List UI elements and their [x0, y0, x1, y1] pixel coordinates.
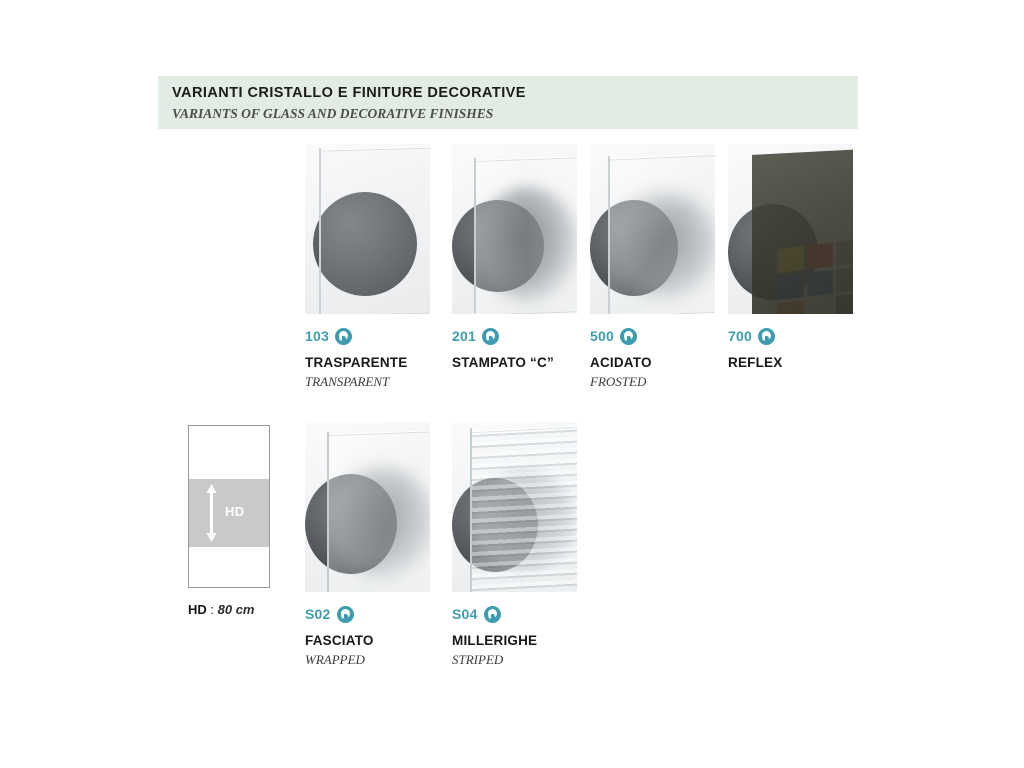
sample-name: TRASPARENTE: [305, 355, 430, 371]
glass-pane-shape: [470, 425, 577, 592]
sample-image-500: [590, 144, 715, 314]
sample-code-line: 201: [452, 327, 577, 345]
hd-caption-value: 80 cm: [218, 602, 255, 617]
sample-image-s02: [305, 422, 430, 592]
sample-code: 500: [590, 327, 614, 345]
glass-drop-icon: [620, 328, 637, 345]
sample-code: S02: [305, 605, 331, 623]
glass-edge-shape: [319, 148, 321, 314]
sample-subtitle: WRAPPED: [305, 652, 430, 668]
sample-name: MILLERIGHE: [452, 633, 577, 649]
page-subtitle: VARIANTS OF GLASS AND DECORATIVE FINISHE…: [172, 104, 858, 123]
hd-double-arrow-icon: [206, 484, 217, 542]
glass-edge-shape: [470, 428, 472, 592]
sample-code-line: 103: [305, 327, 430, 345]
glass-drop-icon: [484, 606, 501, 623]
sample-code: S04: [452, 605, 478, 623]
sample-name: STAMPATO “C”: [452, 355, 577, 371]
sample-code-line: 700: [728, 327, 853, 345]
page-title: VARIANTI CRISTALLO E FINITURE DECORATIVE: [172, 84, 858, 102]
glass-drop-icon: [335, 328, 352, 345]
sample-subtitle: FROSTED: [590, 374, 715, 390]
sample-code: 103: [305, 327, 329, 345]
hd-caption-label: HD: [188, 602, 207, 617]
sample-card-s02[interactable]: S02 FASCIATO WRAPPED: [305, 422, 430, 668]
sample-subtitle: TRANSPARENT: [305, 374, 430, 390]
glass-edge-shape: [608, 156, 610, 314]
sample-image-201: [452, 144, 577, 314]
glass-pane-shape: [327, 430, 430, 592]
sample-name: ACIDATO: [590, 355, 715, 371]
hd-caption-separator: :: [207, 602, 218, 617]
sample-code: 700: [728, 327, 752, 345]
glass-drop-icon: [337, 606, 354, 623]
sample-card-s04[interactable]: S04 MILLERIGHE STRIPED: [452, 422, 577, 668]
sample-code-line: S04: [452, 605, 577, 623]
sample-code-line: S02: [305, 605, 430, 623]
sample-card-201[interactable]: 201 STAMPATO “C”: [452, 144, 577, 374]
sample-subtitle: STRIPED: [452, 652, 577, 668]
sample-name: FASCIATO: [305, 633, 430, 649]
glass-pane-shape: [319, 146, 430, 314]
hd-band-label: HD: [225, 504, 244, 519]
bronze-glass-pane-shape: [752, 149, 853, 314]
sample-card-700[interactable]: 700 REFLEX: [728, 144, 853, 374]
sample-name: REFLEX: [728, 355, 853, 371]
glass-pane-shape: [608, 153, 715, 314]
section-header-banner: VARIANTI CRISTALLO E FINITURE DECORATIVE…: [158, 76, 858, 129]
glass-drop-icon: [758, 328, 775, 345]
sample-card-500[interactable]: 500 ACIDATO FROSTED: [590, 144, 715, 390]
sample-image-103: [305, 144, 430, 314]
glass-pane-shape: [474, 156, 577, 314]
glass-edge-shape: [327, 432, 329, 592]
glass-drop-icon: [482, 328, 499, 345]
sample-image-700: [728, 144, 853, 314]
sample-code: 201: [452, 327, 476, 345]
sample-image-s04: [452, 422, 577, 592]
glass-edge-shape: [474, 158, 476, 313]
hd-diagram: HD HD : 80 cm: [188, 425, 270, 588]
sample-code-line: 500: [590, 327, 715, 345]
sample-card-103[interactable]: 103 TRASPARENTE TRANSPARENT: [305, 144, 430, 390]
hd-door-outline: HD: [188, 425, 270, 588]
